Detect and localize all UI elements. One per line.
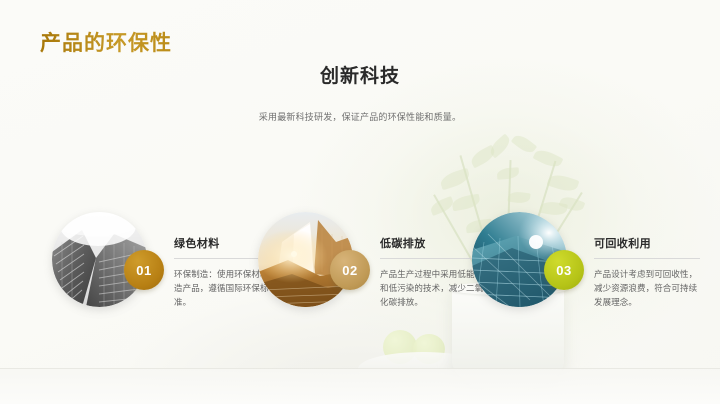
plant-leaf bbox=[507, 191, 530, 205]
plant-leaf bbox=[468, 145, 497, 169]
plant-leaf bbox=[487, 134, 513, 159]
section-subheading: 采用最新科技研发，保证产品的环保性能和质量。 bbox=[0, 110, 720, 123]
saucer-shape bbox=[358, 352, 488, 386]
card-number-badge-3: 03 bbox=[544, 250, 584, 290]
feature-card-3[interactable]: 03 可回收利用 产品设计考虑到可回收性，减少资源浪费，符合可持续发展理念。 bbox=[472, 212, 702, 342]
feature-card-2[interactable]: 02 低碳排放 产品生产过程中采用低能耗和低污染的技术，减少二氧化碳排放。 bbox=[258, 212, 488, 342]
plant-leaf bbox=[547, 172, 580, 195]
card-number-badge-2: 02 bbox=[330, 250, 370, 290]
card-divider-3 bbox=[594, 258, 700, 259]
table-surface bbox=[0, 368, 720, 404]
card-number-badge-1: 01 bbox=[124, 250, 164, 290]
card-text-block-3: 可回收利用 产品设计考虑到可回收性，减少资源浪费，符合可持续发展理念。 bbox=[594, 238, 700, 309]
plant-leaf bbox=[451, 194, 481, 212]
feature-card-1[interactable]: 01 绿色材料 环保制造：使用环保材料制造产品，遵循国际环保标准。 bbox=[52, 212, 282, 342]
plant-leaf bbox=[497, 167, 520, 180]
card-body-2: 产品生产过程中采用低能耗和低污染的技术，减少二氧化碳排放。 bbox=[380, 268, 486, 309]
page-title: 产品的环保性 bbox=[40, 27, 172, 57]
table-edge-line bbox=[0, 368, 720, 369]
slide-canvas: 产品的环保性 创新科技 采用最新科技研发，保证产品的环保性能和质量。 bbox=[0, 0, 720, 404]
card-body-3: 产品设计考虑到可回收性，减少资源浪费，符合可持续发展理念。 bbox=[594, 268, 700, 309]
card-text-block-2: 低碳排放 产品生产过程中采用低能耗和低污染的技术，减少二氧化碳排放。 bbox=[380, 238, 486, 309]
section-heading: 创新科技 bbox=[0, 61, 720, 88]
plant-leaf bbox=[439, 168, 472, 191]
plant-leaf bbox=[533, 147, 564, 171]
card-title-2: 低碳排放 bbox=[380, 238, 486, 251]
card-title-3: 可回收利用 bbox=[594, 238, 700, 251]
card-divider-2 bbox=[380, 258, 486, 259]
plant-leaf bbox=[511, 132, 537, 156]
